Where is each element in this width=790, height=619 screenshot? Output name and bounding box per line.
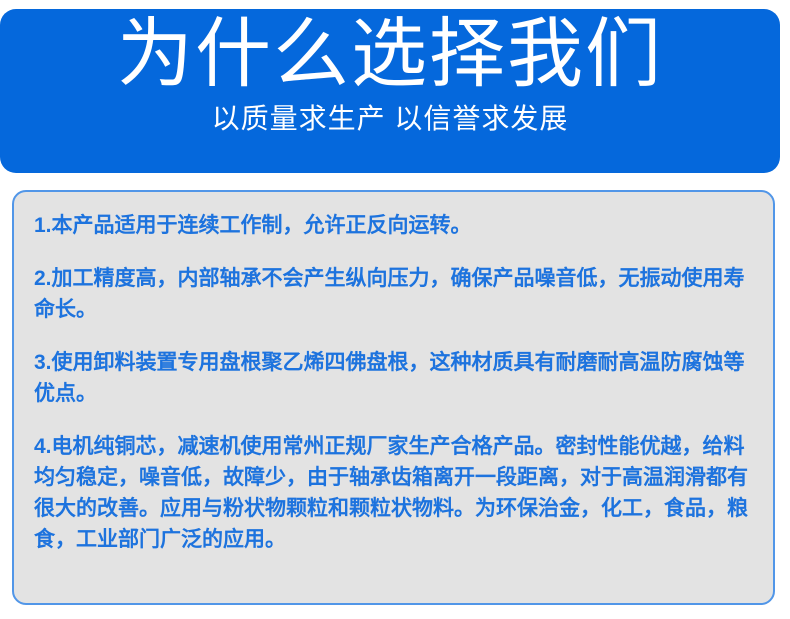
header-banner: 为什么选择我们 以质量求生产 以信誉求发展 <box>0 9 780 173</box>
features-panel: 1.本产品适用于连续工作制，允许正反向运转。 2.加工精度高，内部轴承不会产生纵… <box>12 190 775 605</box>
page-subtitle: 以质量求生产 以信誉求发展 <box>212 102 569 136</box>
list-item: 4.电机纯铜芯，减速机使用常州正规厂家生产合格产品。密封性能优越，给料均匀稳定，… <box>34 431 759 555</box>
feature-list: 1.本产品适用于连续工作制，允许正反向运转。 2.加工精度高，内部轴承不会产生纵… <box>34 210 759 555</box>
list-item: 3.使用卸料装置专用盘根聚乙烯四佛盘根，这种材质具有耐磨耐高温防腐蚀等优点。 <box>34 347 759 409</box>
promo-page: 为什么选择我们 以质量求生产 以信誉求发展 1.本产品适用于连续工作制，允许正反… <box>0 0 790 619</box>
page-title: 为什么选择我们 <box>117 15 663 96</box>
list-item: 2.加工精度高，内部轴承不会产生纵向压力，确保产品噪音低，无振动使用寿命长。 <box>34 263 759 325</box>
list-item: 1.本产品适用于连续工作制，允许正反向运转。 <box>34 210 759 241</box>
